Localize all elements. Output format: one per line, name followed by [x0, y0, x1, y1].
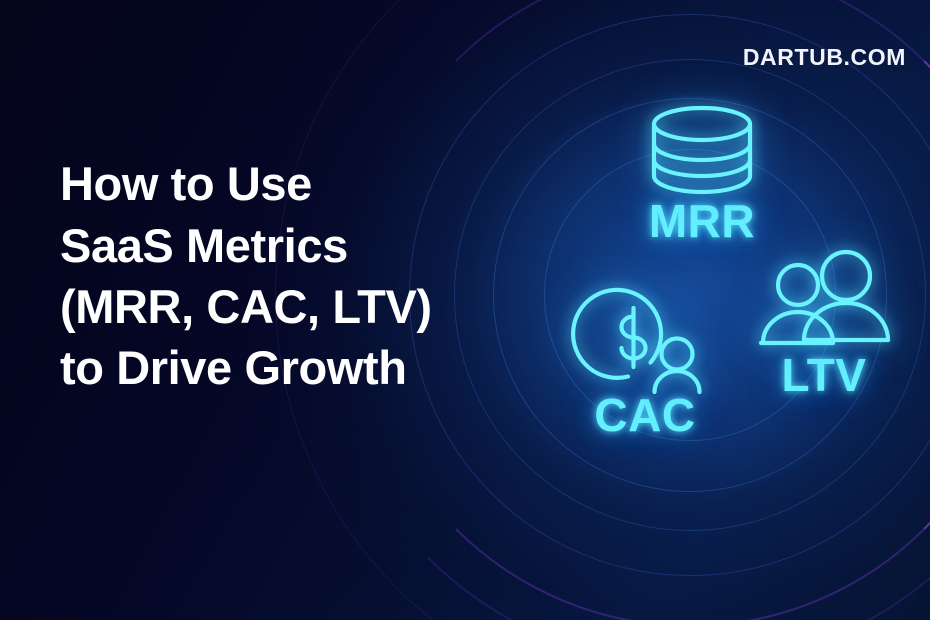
graphic-canvas: DARTUB.COM How to Use SaaS Metrics (MRR,… [0, 0, 930, 620]
dollar-circle-user-icon [570, 278, 720, 396]
title-line-4: to Drive Growth [60, 337, 530, 398]
page-title: How to Use SaaS Metrics (MRR, CAC, LTV) … [60, 153, 530, 397]
metric-badge-cac: CAC [570, 278, 720, 438]
metric-label-cac: CAC [594, 392, 695, 438]
brand-watermark: DARTUB.COM [743, 44, 906, 71]
metric-badge-mrr: MRR [632, 104, 772, 244]
title-line-1: How to Use [60, 153, 530, 214]
title-line-2: SaaS Metrics [60, 215, 530, 276]
two-users-icon [753, 248, 895, 354]
metric-label-mrr: MRR [649, 198, 755, 244]
metric-label-ltv: LTV [782, 352, 867, 398]
title-line-3: (MRR, CAC, LTV) [60, 276, 530, 337]
metric-badge-ltv: LTV [753, 248, 895, 398]
database-stack-icon [632, 104, 772, 196]
